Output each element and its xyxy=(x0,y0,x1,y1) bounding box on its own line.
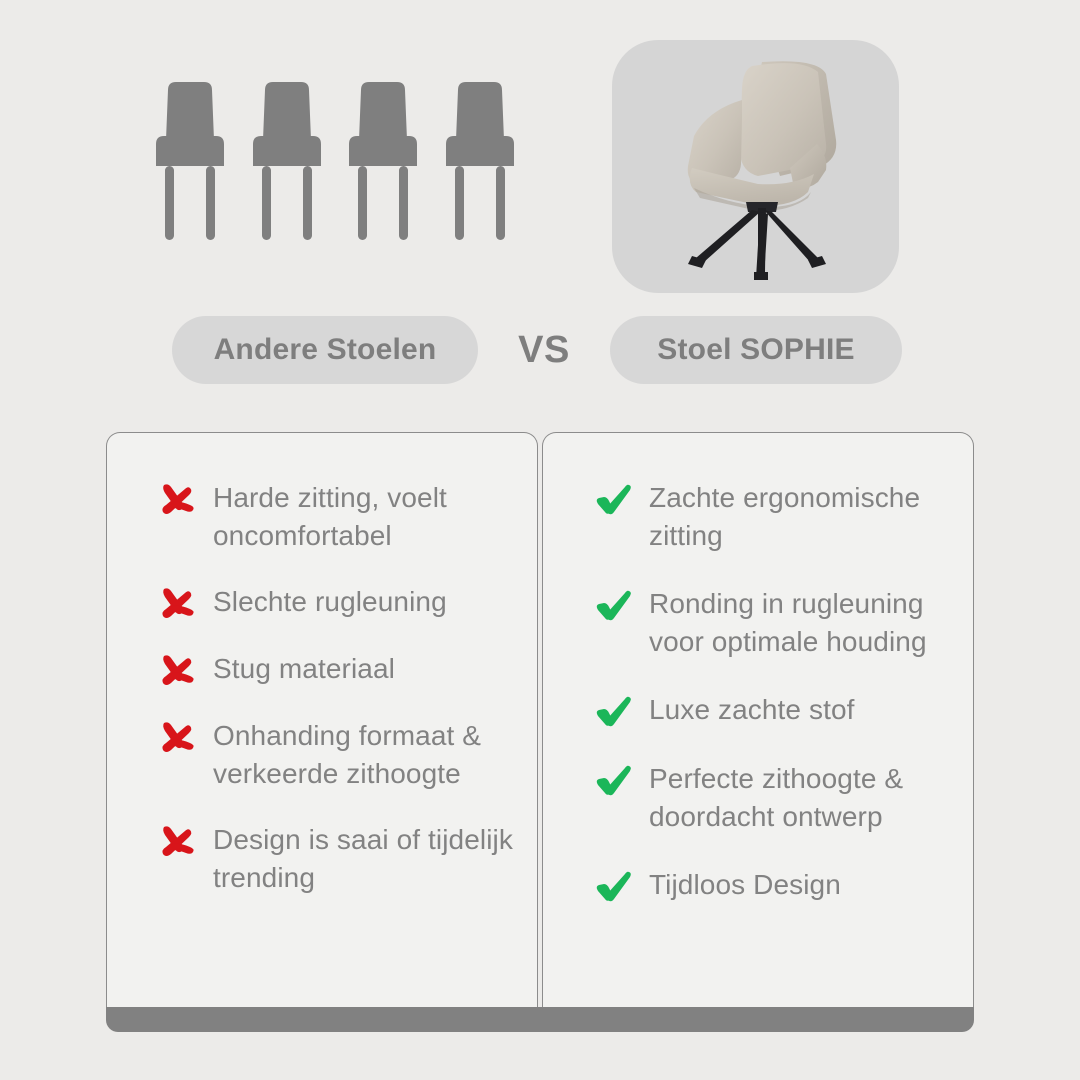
armchair-photo xyxy=(612,40,899,293)
sophie-chair-panel: Zachte ergonomische zitting Ronding in r… xyxy=(542,432,974,1010)
chair-silhouette-icon xyxy=(440,82,520,252)
versus-label: VS xyxy=(478,316,610,384)
list-item: Zachte ergonomische zitting xyxy=(543,479,975,555)
positive-feature-list: Zachte ergonomische zitting Ronding in r… xyxy=(543,479,975,935)
list-item: Design is saai of tijdelijk trending xyxy=(107,821,539,897)
red-cross-icon xyxy=(159,653,197,689)
list-item: Stug materiaal xyxy=(107,650,539,689)
comparison-header-row xyxy=(0,0,1080,300)
green-check-icon xyxy=(595,482,633,518)
list-item: Ronding in rugleuning voor optimale houd… xyxy=(543,585,975,661)
green-check-icon xyxy=(595,869,633,905)
red-cross-icon xyxy=(159,720,197,756)
list-item-label: Onhanding formaat & verkeerde zithoogte xyxy=(213,717,517,793)
list-item: Luxe zachte stof xyxy=(543,691,975,730)
chair-silhouette-icon xyxy=(343,82,423,252)
list-item-label: Luxe zachte stof xyxy=(649,691,855,729)
negative-feature-list: Harde zitting, voelt oncomfortabel Slech… xyxy=(107,479,539,925)
panel-base-bar xyxy=(106,1007,974,1032)
list-item: Perfecte zithoogte & doordacht ontwerp xyxy=(543,760,975,836)
list-item: Tijdloos Design xyxy=(543,866,975,905)
red-cross-icon xyxy=(159,586,197,622)
list-item: Slechte rugleuning xyxy=(107,583,539,622)
versus-label-row: Andere Stoelen VS Stoel SOPHIE xyxy=(0,316,1080,386)
chair-silhouette-icon xyxy=(247,82,327,252)
product-image-card xyxy=(612,40,899,293)
sophie-chair-label-pill: Stoel SOPHIE xyxy=(610,316,902,384)
list-item: Harde zitting, voelt oncomfortabel xyxy=(107,479,539,555)
green-check-icon xyxy=(595,694,633,730)
list-item-label: Design is saai of tijdelijk trending xyxy=(213,821,517,897)
comparison-panels: Harde zitting, voelt oncomfortabel Slech… xyxy=(106,432,974,1030)
list-item: Onhanding formaat & verkeerde zithoogte xyxy=(107,717,539,793)
green-check-icon xyxy=(595,588,633,624)
other-chairs-icon-group xyxy=(150,82,520,252)
list-item-label: Harde zitting, voelt oncomfortabel xyxy=(213,479,517,555)
red-cross-icon xyxy=(159,824,197,860)
other-chairs-panel: Harde zitting, voelt oncomfortabel Slech… xyxy=(106,432,538,1010)
other-chairs-label-pill: Andere Stoelen xyxy=(172,316,478,384)
list-item-label: Perfecte zithoogte & doordacht ontwerp xyxy=(649,760,953,836)
list-item-label: Stug materiaal xyxy=(213,650,395,688)
list-item-label: Slechte rugleuning xyxy=(213,583,447,621)
list-item-label: Ronding in rugleuning voor optimale houd… xyxy=(649,585,953,661)
list-item-label: Zachte ergonomische zitting xyxy=(649,479,953,555)
red-cross-icon xyxy=(159,482,197,518)
green-check-icon xyxy=(595,763,633,799)
list-item-label: Tijdloos Design xyxy=(649,866,841,904)
chair-silhouette-icon xyxy=(150,82,230,252)
